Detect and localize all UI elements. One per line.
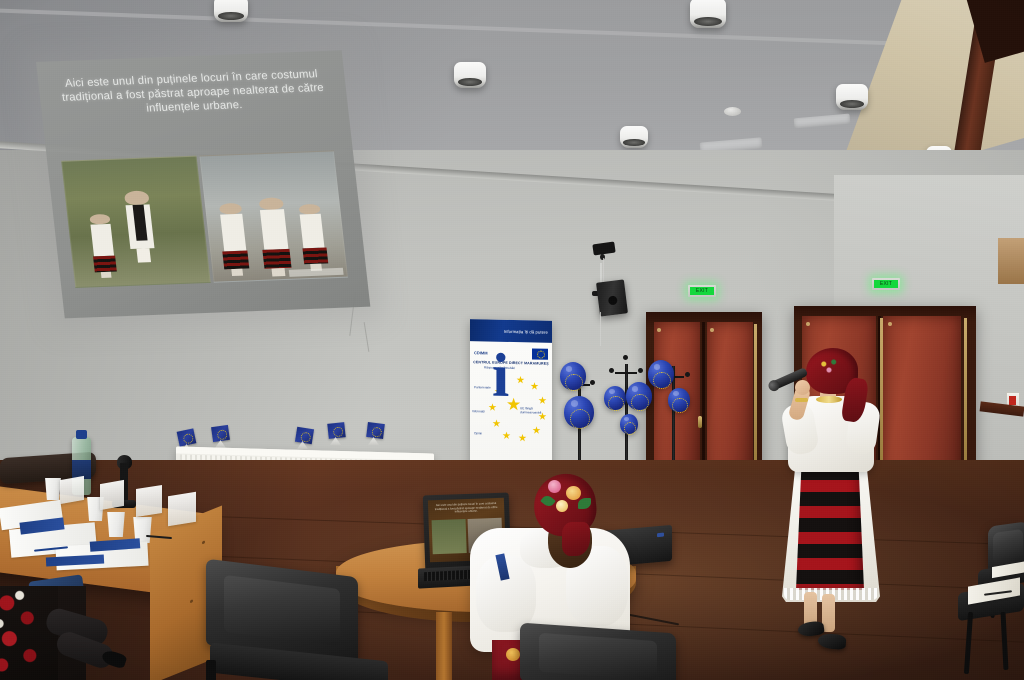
eu-balloon (560, 362, 586, 390)
star-icon: ★ (530, 382, 539, 392)
chair[interactable] (520, 628, 688, 680)
smoke-detector (724, 107, 741, 116)
door-handle[interactable] (698, 416, 702, 428)
eu-flag (366, 422, 385, 439)
room-photo-scene: Aici este unul din puținele locuri în ca… (0, 0, 1024, 680)
chair[interactable] (200, 568, 392, 680)
star-icon: ★ (532, 426, 541, 436)
slide-photos (61, 150, 348, 288)
singer-hand (795, 380, 810, 395)
eu-balloon (604, 386, 626, 410)
slide-figure (124, 190, 158, 276)
scarf-flower (556, 500, 568, 512)
table-screw (202, 540, 205, 544)
star-icon: ★ (518, 434, 527, 444)
eu-balloon (648, 360, 674, 388)
projected-slide: Aici este unul din puținele locuri în ca… (36, 50, 370, 318)
banner-header: Informația îți dă putere (470, 319, 552, 343)
chair-back[interactable] (520, 623, 676, 680)
name-tent (168, 492, 196, 526)
banner-label: UE lângă dumneavoastră (520, 406, 546, 415)
projector-indicator (657, 533, 664, 538)
eu-balloon (564, 396, 594, 428)
name-tent (100, 480, 124, 510)
laptop-photo-left (432, 519, 467, 554)
skirt-flower (506, 648, 520, 661)
eu-flag (211, 425, 230, 442)
banner-label: Parteneriate (474, 385, 491, 389)
banner-graphic: ★ ★ ★ ★ ★ ★ ★ ★ ★ ★ ★ Răspunsuri la într… (476, 369, 546, 470)
star-icon: ★ (516, 376, 525, 386)
ceiling-downlight (620, 126, 648, 148)
slide-figure (90, 214, 117, 276)
table-screw (190, 599, 193, 603)
slide-text: Aici este unul din puținele locuri în ca… (50, 67, 336, 120)
exit-sign-label: EXIT (874, 280, 898, 288)
plastic-cup (106, 512, 126, 537)
name-tent (136, 485, 162, 517)
singer-bracelet (795, 398, 808, 402)
chair-leg (964, 612, 973, 674)
rack-knob (609, 368, 614, 373)
singer-necklace (816, 396, 842, 403)
banner-label: Informații (472, 409, 485, 413)
star-icon: ★ (502, 432, 511, 442)
scarf-flower (566, 486, 581, 500)
slide-photo-left (61, 156, 210, 288)
banner-info-letter: i (492, 350, 509, 402)
eu-balloon (626, 382, 652, 410)
rack-knob (638, 368, 643, 373)
singer-striped-skirt (796, 466, 864, 590)
ceiling-downlight (454, 62, 486, 88)
eu-flag (295, 427, 314, 444)
seated-woman-floral-pattern (0, 586, 58, 680)
exit-sign: EXIT (872, 278, 900, 290)
ceiling-downlight (690, 0, 726, 28)
exit-sign-label: EXIT (690, 287, 714, 295)
slide-photo-watermark (289, 268, 344, 277)
bottle-cap (76, 430, 87, 439)
rack-knob (623, 355, 628, 360)
chair-frame (206, 660, 216, 680)
eu-balloon (668, 388, 690, 412)
seated-headscarf-tail (562, 522, 590, 556)
exit-sign: EXIT (688, 285, 716, 297)
star-icon: ★ (492, 420, 501, 430)
rack-crossbar (615, 372, 637, 374)
scarf-flower (548, 480, 561, 493)
cable (600, 312, 601, 346)
round-table-leg (436, 612, 452, 680)
slide-photo-right (199, 150, 348, 282)
banner-label: Opinii (474, 431, 482, 435)
cable (603, 258, 604, 284)
singer-leg (822, 594, 835, 632)
wall-panel (998, 238, 1024, 284)
cdimm-logo: CDIMM (474, 350, 488, 355)
star-icon: ★ (538, 397, 547, 407)
eu-balloon (620, 414, 638, 434)
ceiling-downlight (214, 0, 248, 22)
banner-org-title: CENTRUL EUROPE DIRECT MARAMUREȘ (470, 360, 552, 366)
chair[interactable] (958, 578, 1024, 680)
name-tent (60, 476, 84, 504)
slide-figure (258, 197, 291, 273)
eu-flag (327, 422, 345, 439)
rack-knob (685, 372, 690, 377)
ceiling-downlight (836, 84, 868, 110)
eu-flag-icon (532, 348, 548, 359)
chair-leg (1000, 612, 1008, 670)
rack-knob (590, 380, 595, 385)
laptop-slide-text: Aici este unul din puținele locuri în ca… (432, 502, 500, 515)
slide-figure (219, 203, 249, 273)
slide-figure (299, 204, 327, 268)
wall-speaker (596, 279, 628, 316)
